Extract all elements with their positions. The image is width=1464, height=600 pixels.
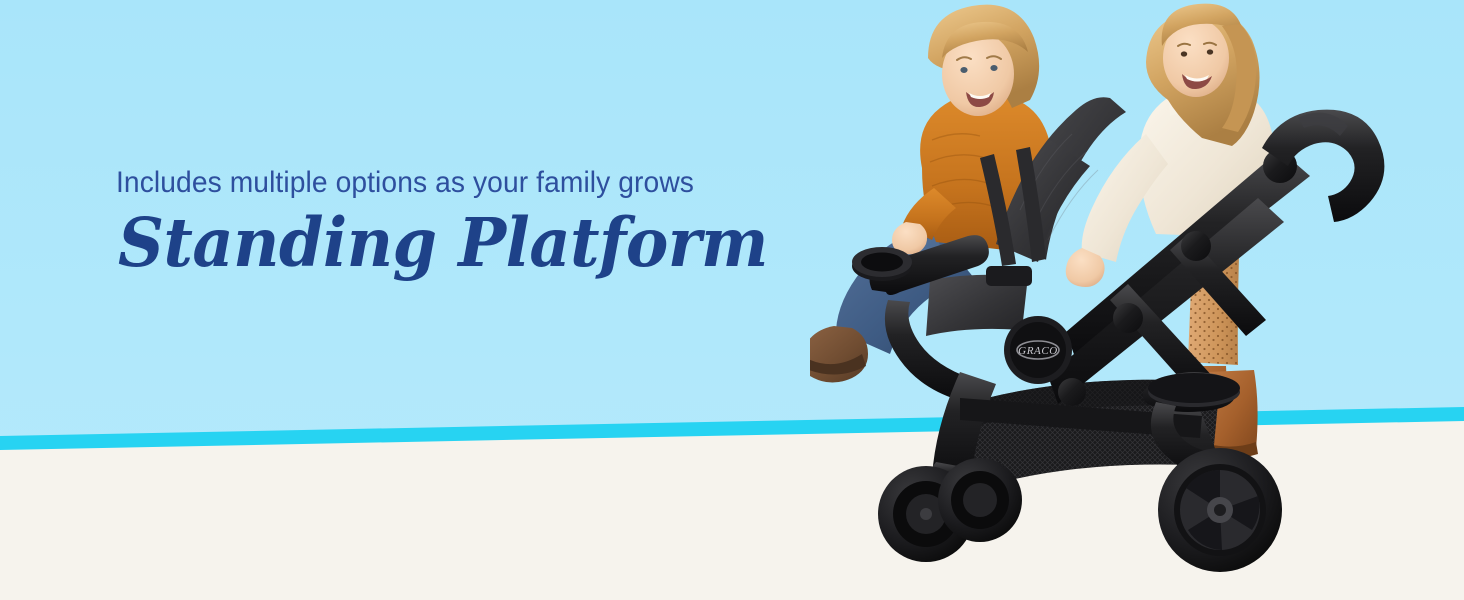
promo-banner: Includes multiple options as your family… xyxy=(0,0,1464,600)
frame-joint-mid xyxy=(1181,231,1211,261)
front-wheels xyxy=(878,458,1022,562)
harness-buckle xyxy=(986,266,1032,286)
frame-joint-lower xyxy=(1113,303,1143,333)
frame-joint-rear xyxy=(1058,378,1086,406)
graco-logo-text: GRACO xyxy=(1018,345,1058,357)
banner-eyebrow: Includes multiple options as your family… xyxy=(116,166,774,200)
graco-hub-logo: GRACO xyxy=(1004,316,1072,384)
product-photo: GRACO xyxy=(810,0,1464,600)
cup-holder xyxy=(852,247,912,281)
rear-wheel xyxy=(1158,448,1282,572)
banner-copy: Includes multiple options as your family… xyxy=(116,166,816,280)
banner-headline: Standing Platform xyxy=(118,206,781,280)
